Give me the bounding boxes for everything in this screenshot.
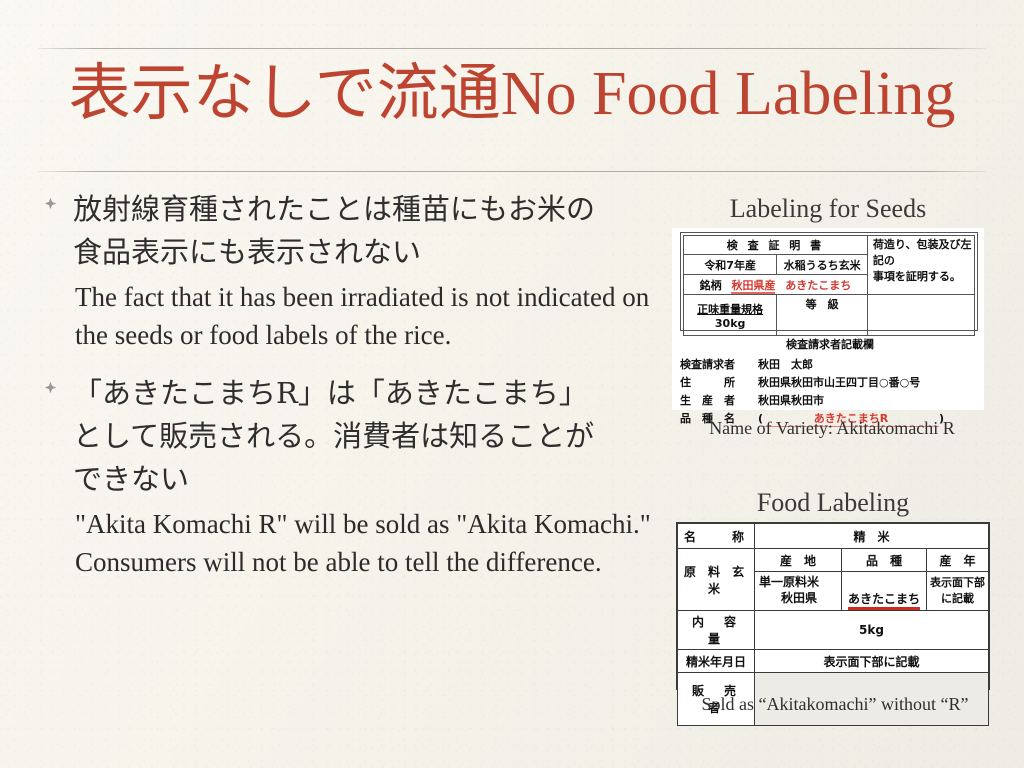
divider-bottom	[38, 171, 986, 172]
food-section-heading: Food Labeling	[676, 488, 990, 518]
cert-brand-name: あきたこまち	[785, 279, 851, 292]
producer-label: 生 産 者	[680, 391, 758, 409]
cert-note-line-1: 荷造り、包装及び左記の	[873, 237, 972, 269]
food-milling-label: 精米年月日	[678, 650, 755, 673]
bullet-2-jp-line-2: として販売される。消費者は知ることが	[40, 415, 660, 458]
applicant-block-title: 検査請求者記載欄	[680, 336, 980, 352]
slide-root: 表示なしで流通No Food Labeling 放射線育種されたことは種苗にもお…	[0, 0, 1024, 768]
applicant-value: 秋田 太郎	[758, 355, 980, 373]
bullet-1-en-text: The fact that it has been irradiated is …	[40, 278, 660, 354]
food-origin-line-1: 単一原料米	[759, 574, 839, 590]
page-title-jp: 表示なしで流通	[69, 56, 501, 129]
cert-grade-label: 等 級	[779, 296, 865, 312]
producer-value: 秋田県秋田市	[758, 391, 980, 409]
bullet-2-jp-line-1: 「あきたこまちR」は「あきたこまち」	[40, 372, 660, 415]
page-title-en: No Food Labeling	[501, 60, 956, 128]
seed-certificate-table: 検 査 証 明 書 荷造り、包装及び左記の 事項を証明する。 令和7年産 水稲う…	[680, 232, 978, 331]
applicant-block: 検査請求者記載欄 検査請求者 秋田 太郎 住 所 秋田県秋田市山王四丁目○番○号…	[680, 336, 980, 428]
address-value: 秋田県秋田市山王四丁目○番○号	[758, 373, 980, 391]
cert-brand-label: 銘柄	[700, 279, 722, 292]
food-origin-line-2: 秋田県	[759, 590, 839, 606]
food-variety-value: あきたこまち	[848, 592, 920, 610]
food-labeling-table: 名 称 精 米 原 料 玄 米 産 地 品 種 産 年 単一原料米 秋田県 あき…	[676, 522, 990, 690]
food-year-value: 表示面下部に記載	[927, 572, 989, 611]
table-row: 精米年月日 表示面下部に記載	[678, 650, 989, 673]
food-milling-value: 表示面下部に記載	[755, 650, 989, 673]
cert-weight-label: 正味重量規格	[686, 301, 774, 317]
food-subheader-origin: 産 地	[755, 549, 842, 572]
cert-rice-type: 水稲うるち玄米	[777, 255, 868, 275]
table-row: 名 称 精 米	[678, 524, 989, 549]
left-content-column: 放射線育種されたことは種苗にもお米の 食品表示にも表示されない The fact…	[40, 188, 660, 591]
cert-weight-value: 30kg	[686, 317, 774, 330]
food-section-caption: Sold as “Akitakomachi” without “R”	[660, 694, 1010, 715]
food-subheader-year: 産 年	[927, 549, 989, 572]
food-content-value: 5kg	[755, 611, 989, 650]
diamond-bullet-icon	[44, 197, 57, 210]
table-row: 原 料 玄 米 産 地 品 種 産 年	[678, 549, 989, 572]
bullet-item-2: 「あきたこまちR」は「あきたこまち」 として販売される。消費者は知ることが でき…	[40, 372, 660, 581]
food-content-label: 内 容 量	[678, 611, 755, 650]
address-label: 住 所	[680, 373, 758, 391]
cert-blank-cell	[867, 295, 974, 336]
page-title: 表示なしで流通No Food Labeling	[0, 62, 1024, 125]
cert-brand-origin: 秋田県産	[731, 279, 775, 294]
applicant-row: 住 所 秋田県秋田市山王四丁目○番○号	[680, 373, 980, 391]
food-ingredient-label: 原 料 玄 米	[678, 549, 755, 611]
cert-crop-year: 令和7年産	[684, 255, 777, 275]
table-row: 内 容 量 5kg	[678, 611, 989, 650]
bullet-item-1: 放射線育種されたことは種苗にもお米の 食品表示にも表示されない The fact…	[40, 188, 660, 354]
bullet-1-jp-line-1: 放射線育種されたことは種苗にもお米の	[40, 188, 660, 231]
seeds-section-heading: Labeling for Seeds	[672, 194, 984, 224]
seeds-section-caption: Name of Variety: Akitakomachi R	[672, 418, 992, 439]
food-name-label: 名 称	[678, 524, 755, 549]
applicant-row: 検査請求者 秋田 太郎	[680, 355, 980, 373]
cert-title: 検 査 証 明 書	[727, 239, 824, 252]
food-subheader-variety: 品 種	[842, 549, 927, 572]
food-name-value: 精 米	[755, 524, 989, 549]
bullet-2-jp-line-3: できない	[40, 458, 660, 501]
bullet-2-en-text: "Akita Komachi R" will be sold as "Akita…	[40, 505, 660, 581]
divider-top	[38, 48, 986, 49]
applicant-label: 検査請求者	[680, 355, 758, 373]
bullet-1-jp-line-2: 食品表示にも表示されない	[40, 231, 660, 274]
cert-note-line-2: 事項を証明する。	[873, 269, 972, 285]
diamond-bullet-icon	[44, 381, 57, 394]
applicant-row: 生 産 者 秋田県秋田市	[680, 391, 980, 409]
